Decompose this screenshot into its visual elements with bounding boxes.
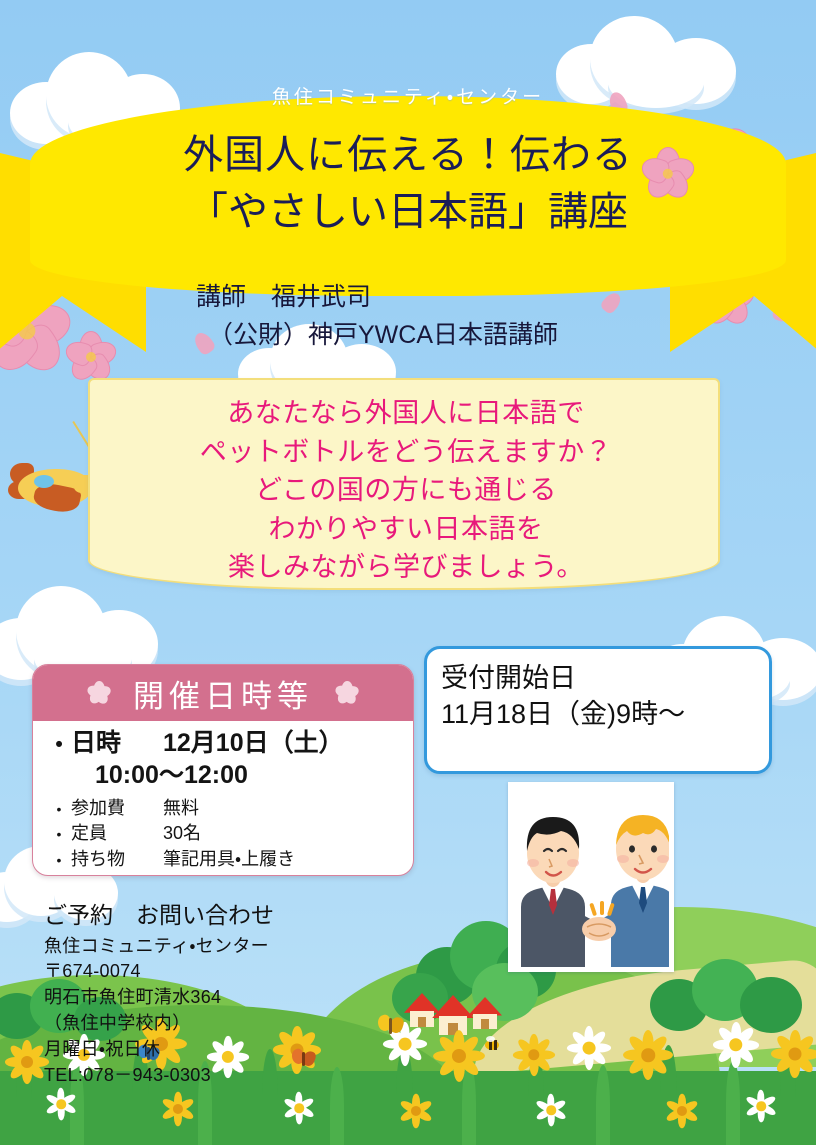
contact-line-center: 魚住コミュニティ・センター — [44, 934, 444, 960]
page-title: 外国人に伝える！伝わる 「やさしい日本語」講座 — [0, 127, 816, 241]
contact-line-closed-days: 月曜日・祝日休 — [44, 1037, 444, 1063]
detail-label-bring: 持ち物 — [71, 847, 163, 873]
message-line-1: あなたなら外国人に日本語で — [90, 394, 722, 433]
message-text: あなたなら外国人に日本語で ペットボトルをどう伝えますか？ どこの国の方にも通じ… — [90, 394, 722, 587]
bullet-icon: • — [47, 802, 71, 816]
detail-value-bring: 筆記用具・上履き — [163, 849, 295, 869]
registration-date: 11月18日（金)9時〜 — [441, 697, 769, 733]
flower-icon — [770, 1029, 816, 1079]
detail-row-capacity: • 定員30名 — [33, 821, 413, 847]
bullet-icon: • — [47, 853, 71, 867]
handshake-icon — [513, 787, 674, 972]
bullet-icon: • — [47, 827, 71, 841]
event-details-list: • 日時12月10日（土） 10:00〜12:00 • 参加費無料 • 定員30… — [33, 721, 413, 872]
flower-icon — [534, 1093, 568, 1127]
sakura-icon-left — [87, 681, 111, 705]
flower-icon — [44, 1087, 78, 1121]
handshake-illustration — [508, 782, 674, 972]
flower-icon — [744, 1089, 778, 1123]
flower-icon — [512, 1033, 556, 1077]
detail-row-fee: • 参加費無料 — [33, 796, 413, 822]
sakura-icon-right — [335, 681, 359, 705]
detail-label-fee: 参加費 — [71, 796, 163, 822]
message-line-3: どこの国の方にも通じる — [90, 471, 722, 510]
registration-start-box: 受付開始日 11月18日（金)9時〜 — [424, 646, 772, 774]
contact-line-building: （魚住中学校内） — [44, 1011, 444, 1037]
registration-label: 受付開始日 — [441, 661, 769, 697]
contact-line-address: 明石市魚住町清水364 — [44, 985, 444, 1011]
message-line-4: わかりやすい日本語を — [90, 510, 722, 549]
event-details-header: 開催日時等 — [33, 665, 413, 721]
detail-value-capacity: 30名 — [163, 823, 201, 843]
event-details-title: 開催日時等 — [133, 671, 313, 716]
detail-label-datetime: 日時 — [71, 727, 163, 759]
detail-value-datetime: 12月10日（土） — [163, 729, 344, 757]
flower-icon — [160, 1091, 196, 1127]
message-line-2: ペットボトルをどう伝えますか？ — [90, 433, 722, 472]
flower-icon — [664, 1093, 700, 1129]
house-icon — [468, 997, 502, 1029]
message-line-5: 楽しみながら学びましょう。 — [90, 548, 722, 587]
lecturer-name: 講師 福井武司 — [0, 278, 816, 316]
detail-value-fee: 無料 — [163, 798, 199, 818]
flower-icon — [566, 1025, 612, 1071]
bee-icon — [482, 1037, 502, 1053]
flower-icon — [622, 1029, 674, 1081]
lecturer-info: 講師 福井武司 （公財）神戸YWCA日本語講師 — [0, 278, 816, 354]
message-panel: あなたなら外国人に日本語で ペットボトルをどう伝えますか？ どこの国の方にも通じ… — [88, 378, 720, 590]
event-details-box: 開催日時等 • 日時12月10日（土） 10:00〜12:00 • 参加費無料 … — [32, 664, 414, 876]
cloud-left-mid — [0, 576, 166, 676]
bullet-icon: • — [47, 734, 71, 755]
lecturer-affiliation: （公財）神戸YWCA日本語講師 — [0, 316, 816, 354]
organization-name: 魚住コミュニティ・センター — [0, 82, 816, 109]
flower-icon — [282, 1091, 316, 1125]
flower-icon — [398, 1093, 434, 1129]
detail-row-datetime: • 日時12月10日（土） — [33, 727, 413, 759]
detail-row-bring: • 持ち物筆記用具・上履き — [33, 847, 413, 873]
contact-block: ご予約 お問い合わせ 魚住コミュニティ・センター 〒674-0074 明石市魚住… — [44, 898, 444, 1089]
contact-line-telephone: TEL:078－943-0303 — [44, 1063, 444, 1089]
title-line-2: 「やさしい日本語」講座 — [0, 184, 816, 241]
flower-icon — [712, 1021, 760, 1069]
detail-label-capacity: 定員 — [71, 821, 163, 847]
detail-row-time: 10:00〜12:00 — [33, 759, 413, 792]
poster-root: 魚住コミュニティ・センター 外国人に伝える！伝わる 「やさしい日本語」講座 講師… — [0, 0, 816, 1145]
title-line-1: 外国人に伝える！伝わる — [0, 127, 816, 184]
contact-heading: ご予約 お問い合わせ — [44, 898, 444, 933]
contact-line-postal: 〒674-0074 — [44, 959, 444, 985]
